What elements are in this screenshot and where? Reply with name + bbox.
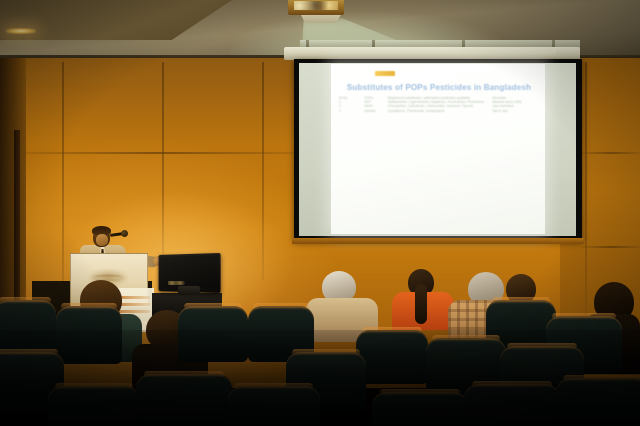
chair[interactable]	[56, 306, 122, 364]
chair[interactable]	[356, 330, 428, 384]
recessed-ceiling-light	[6, 28, 36, 34]
speaker-face	[96, 234, 108, 246]
presentation-photo: Substitutes of POPs Pesticides in Bangla…	[0, 0, 640, 426]
monitor-buttons-icon	[168, 281, 188, 285]
chair[interactable]	[372, 392, 468, 426]
chair[interactable]	[228, 386, 320, 426]
screen-bottom-wall	[292, 238, 584, 244]
left-wall-trim	[14, 130, 20, 300]
table-row: 3 Dieldrin Quinalphos, Phenthoate, Imida…	[339, 109, 537, 113]
panel-seam	[20, 152, 300, 154]
chair[interactable]	[464, 384, 560, 426]
monitor-stand	[178, 286, 200, 295]
projected-slide: Substitutes of POPs Pesticides in Bangla…	[331, 64, 545, 234]
chair[interactable]	[178, 306, 248, 362]
projector-lens-icon	[294, 1, 338, 10]
panel-seam	[62, 62, 64, 290]
chair[interactable]	[556, 378, 640, 426]
chair[interactable]	[136, 374, 232, 426]
table-cell: Not in use	[492, 109, 537, 113]
slide-table: Sl No. POPs Registered substitutes / alt…	[339, 96, 537, 113]
panel-seam	[262, 62, 264, 280]
table-cell: 3	[339, 109, 360, 113]
panel-seam	[582, 152, 640, 154]
slide-title: Substitutes of POPs Pesticides in Bangla…	[337, 83, 541, 92]
microphone-icon	[121, 230, 128, 237]
panel-seam	[582, 246, 640, 248]
table-cell: Dieldrin	[364, 109, 383, 113]
slide-logo-icon	[375, 71, 395, 76]
table-cell: Quinalphos, Phenthoate, Imidacloprid	[388, 109, 489, 113]
screen-housing-end-cap	[556, 48, 580, 59]
chair[interactable]	[48, 386, 140, 426]
attendee-ponytail	[415, 284, 427, 324]
